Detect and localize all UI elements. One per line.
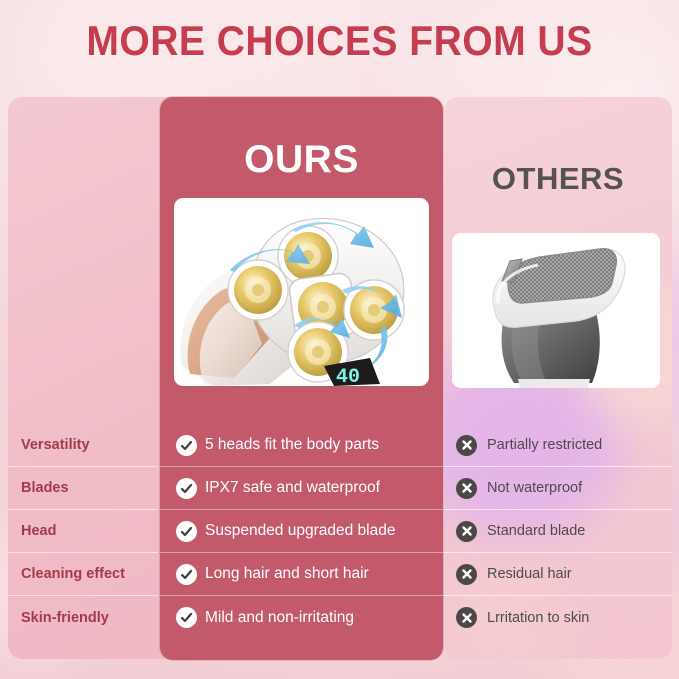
others-feature-row: Partially restricted: [444, 424, 672, 467]
feature-label: Blades: [21, 480, 69, 496]
ours-heading: OURS: [160, 140, 443, 179]
check-circle-icon: [176, 478, 197, 499]
cross-circle-icon: [456, 435, 477, 456]
others-heading: OTHERS: [444, 163, 672, 194]
ours-feature-text: Mild and non-irritating: [205, 609, 354, 627]
ours-feature-text: Suspended upgraded blade: [205, 522, 395, 540]
ours-feature-row: Suspended upgraded blade: [160, 510, 443, 553]
led-value: 40: [336, 366, 360, 386]
ours-feature-row: Mild and non-irritating: [160, 596, 443, 639]
others-feature-row: Lrritation to skin: [444, 596, 672, 639]
ours-feature-row: 5 heads fit the body parts: [160, 424, 443, 467]
others-feature-row: Residual hair: [444, 553, 672, 596]
others-feature-text: Standard blade: [487, 523, 585, 539]
page-title: MORE CHOICES FROM US: [24, 20, 655, 62]
feature-label: Skin-friendly: [21, 610, 109, 626]
others-feature-row: Not waterproof: [444, 467, 672, 510]
ours-feature-text: IPX7 safe and waterproof: [205, 479, 380, 497]
ours-feature-row: IPX7 safe and waterproof: [160, 467, 443, 510]
cross-circle-icon: [456, 521, 477, 542]
ours-product-image: 40: [174, 198, 429, 386]
feature-label-row: Skin-friendly: [8, 596, 158, 639]
others-feature-list: Partially restricted Not waterproof Stan…: [444, 424, 672, 639]
feature-label-list: Versatility Blades Head Cleaning effect …: [8, 424, 158, 639]
check-circle-icon: [176, 521, 197, 542]
ours-feature-text: Long hair and short hair: [205, 565, 369, 583]
others-feature-text: Residual hair: [487, 566, 572, 582]
ours-feature-row: Long hair and short hair: [160, 553, 443, 596]
ours-feature-list: 5 heads fit the body parts IPX7 safe and…: [160, 424, 443, 639]
feature-label-row: Head: [8, 510, 158, 553]
others-feature-text: Lrritation to skin: [487, 610, 589, 626]
cross-circle-icon: [456, 478, 477, 499]
ours-feature-text: 5 heads fit the body parts: [205, 436, 379, 454]
comparison-infographic: MORE CHOICES FROM US OURS OTHERS: [0, 0, 679, 679]
feature-label-row: Cleaning effect: [8, 553, 158, 596]
check-circle-icon: [176, 564, 197, 585]
feature-label: Cleaning effect: [21, 566, 125, 582]
others-feature-row: Standard blade: [444, 510, 672, 553]
feature-label: Versatility: [21, 437, 90, 453]
check-circle-icon: [176, 435, 197, 456]
others-feature-text: Not waterproof: [487, 480, 582, 496]
cross-circle-icon: [456, 607, 477, 628]
feature-label-row: Versatility: [8, 424, 158, 467]
others-product-image: [452, 233, 660, 388]
check-circle-icon: [176, 607, 197, 628]
feature-label-row: Blades: [8, 467, 158, 510]
cross-circle-icon: [456, 564, 477, 585]
feature-label: Head: [21, 523, 56, 539]
others-feature-text: Partially restricted: [487, 437, 602, 453]
